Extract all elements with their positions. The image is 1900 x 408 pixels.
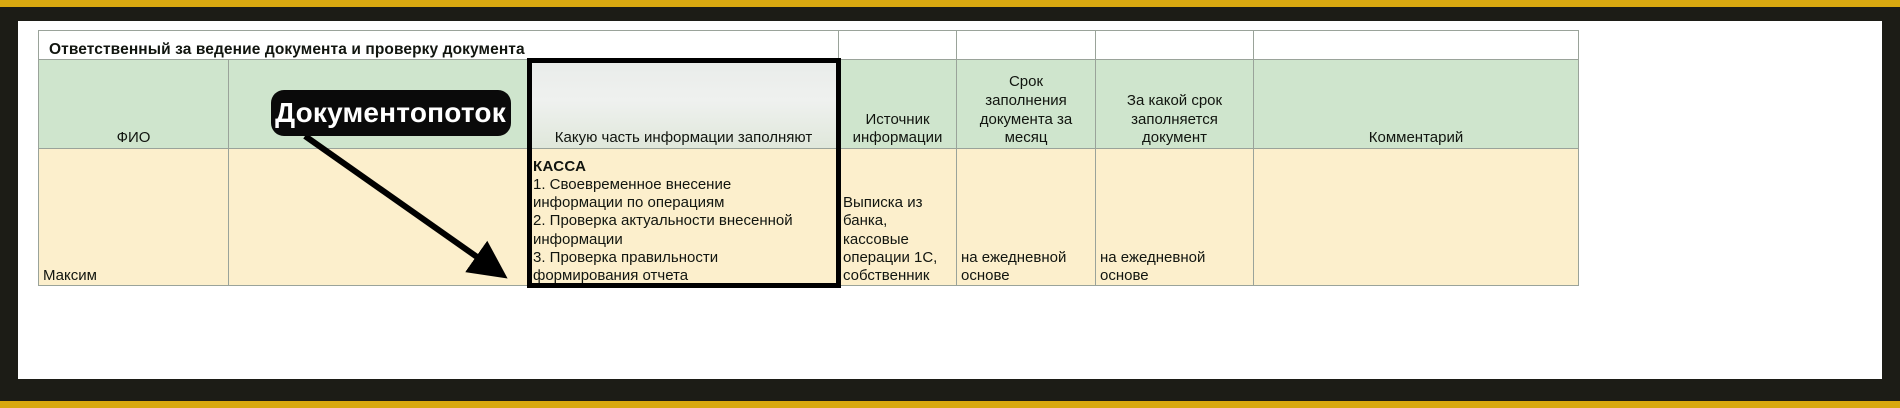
title-row-spacer-source bbox=[839, 31, 957, 60]
title-row-spacer-comment bbox=[1254, 31, 1579, 60]
column-header-period-label: За какой срок заполняется документ bbox=[1100, 92, 1249, 148]
table-row: Максим КАССА 1. Своевременное внесение и… bbox=[39, 149, 1579, 286]
cell-period: на ежедневной основе bbox=[1096, 149, 1254, 286]
frame-band-top bbox=[0, 7, 1900, 21]
cell-fio-text: Максим bbox=[43, 267, 224, 285]
cell-part-title: КАССА bbox=[533, 158, 834, 176]
frame-band-left bbox=[0, 7, 18, 401]
column-header-source: Источник информации bbox=[839, 60, 957, 149]
cell-term-text: на ежедневной основе bbox=[961, 249, 1091, 285]
table-title-cell: Ответственный за ведение документа и про… bbox=[39, 31, 839, 60]
column-header-fio-label: ФИО bbox=[43, 129, 224, 148]
frame-band-right bbox=[1882, 7, 1900, 401]
cell-fio: Максим bbox=[39, 149, 229, 286]
column-header-period: За какой срок заполняется документ bbox=[1096, 60, 1254, 149]
column-header-comment: Комментарий bbox=[1254, 60, 1579, 149]
sheet-canvas: Ответственный за ведение документа и про… bbox=[18, 21, 1882, 379]
accent-bar-top bbox=[0, 0, 1900, 7]
cell-term: на ежедневной основе bbox=[957, 149, 1096, 286]
column-header-source-label: Источник информации bbox=[843, 111, 952, 149]
column-header-part-label: Какую часть информации заполняют bbox=[533, 129, 834, 148]
documentopotok-callout-badge: Документопоток bbox=[271, 90, 511, 136]
column-header-part: Какую часть информации заполняют bbox=[529, 60, 839, 149]
table-title-row: Ответственный за ведение документа и про… bbox=[39, 31, 1579, 60]
cell-period-text: на ежедневной основе bbox=[1100, 249, 1249, 285]
cell-comment bbox=[1254, 149, 1579, 286]
cell-part-items: 1. Своевременное внесение информации по … bbox=[533, 176, 834, 285]
table-header-row: ФИО Какую часть информации заполняют Ист… bbox=[39, 60, 1579, 149]
column-header-term: Срок заполнения документа за месяц bbox=[957, 60, 1096, 149]
cell-part: КАССА 1. Своевременное внесение информац… bbox=[529, 149, 839, 286]
cell-flow bbox=[229, 149, 529, 286]
frame-band-bottom bbox=[0, 379, 1900, 401]
column-header-term-label: Срок заполнения документа за месяц bbox=[961, 73, 1091, 148]
title-row-spacer-period bbox=[1096, 31, 1254, 60]
decorative-frame: Ответственный за ведение документа и про… bbox=[0, 0, 1900, 408]
column-header-comment-label: Комментарий bbox=[1258, 129, 1574, 148]
table-title-text: Ответственный за ведение документа и про… bbox=[43, 41, 525, 58]
responsibility-table: Ответственный за ведение документа и про… bbox=[38, 30, 1579, 286]
title-row-spacer-term bbox=[957, 31, 1096, 60]
cell-source-text: Выписка из банка, кассовые операции 1С, … bbox=[843, 194, 952, 285]
cell-source: Выписка из банка, кассовые операции 1С, … bbox=[839, 149, 957, 286]
column-header-fio: ФИО bbox=[39, 60, 229, 149]
documentopotok-callout-label: Документопоток bbox=[275, 97, 506, 129]
accent-bar-bottom bbox=[0, 401, 1900, 408]
